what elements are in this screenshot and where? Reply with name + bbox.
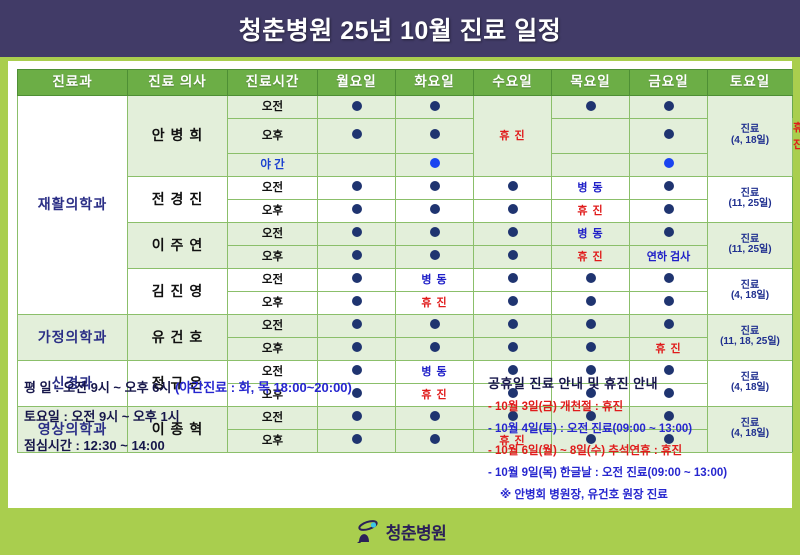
availability-dot-cell	[630, 119, 708, 154]
table-header: 진료과진료 의사진료시간월요일화요일수요일목요일금요일토요일	[18, 70, 793, 96]
availability-dot-cell	[552, 337, 630, 360]
available-dot-icon	[430, 101, 440, 111]
closed-cell: 휴 진	[630, 337, 708, 360]
content-frame: 진료과진료 의사진료시간월요일화요일수요일목요일금요일토요일 재활의학과안 병 …	[8, 61, 792, 508]
availability-dot-cell	[474, 222, 552, 245]
availability-dot-cell	[396, 337, 474, 360]
availability-dot-cell	[474, 245, 552, 268]
availability-dot-cell	[318, 337, 396, 360]
saturday-hours-line: 토요일 : 오전 9시 ~ 오후 1시	[24, 406, 454, 425]
saturday-cell: 진료(11, 25일)	[708, 176, 793, 222]
available-dot-icon	[586, 296, 596, 306]
availability-dot-cell	[318, 176, 396, 199]
closed-label: 휴 진	[655, 343, 681, 355]
available-dot-icon	[508, 319, 518, 329]
empty-cell	[318, 153, 396, 176]
hospital-logo-icon	[354, 520, 380, 544]
available-dot-icon	[508, 250, 518, 260]
available-dot-icon	[508, 342, 518, 352]
availability-dot-cell	[396, 199, 474, 222]
closed-label: 휴 진	[577, 251, 603, 263]
availability-dot-cell	[474, 314, 552, 337]
availability-dot-cell	[318, 245, 396, 268]
availability-dot-cell	[630, 96, 708, 119]
ward-duty-label: 병 동	[421, 274, 447, 286]
saturday-cell: 진료(11, 18, 25일)	[708, 314, 793, 360]
night-availability-cell	[396, 153, 474, 176]
doctor-name: 이 주 연	[128, 222, 228, 268]
department-name: 재활의학과	[18, 96, 128, 315]
available-dot-icon	[664, 227, 674, 237]
available-dot-icon	[352, 296, 362, 306]
saturday-cell: 진료(11, 25일)	[708, 222, 793, 268]
availability-dot-cell	[474, 337, 552, 360]
holiday-notice-list: - 10월 3일(금) 개천절 : 휴진- 10월 4일(토) : 오전 진료(…	[488, 398, 788, 524]
weekday-hours-label: 평 일 : 오전 9시 ~ 오후 6시	[24, 380, 171, 395]
saturday-dates: (4, 18일)	[708, 291, 792, 302]
available-dot-icon	[508, 296, 518, 306]
schedule-poster: 청춘병원 25년 10월 진료 일정 진료과진료 의사진료시간월요일화요일수요일…	[0, 0, 800, 555]
available-dot-icon	[430, 319, 440, 329]
ward-duty-cell: 병 동	[552, 222, 630, 245]
availability-dot-cell	[318, 119, 396, 154]
closed-label: 휴 진	[421, 297, 447, 309]
availability-dot-cell	[630, 314, 708, 337]
night-availability-cell	[630, 153, 708, 176]
saturday-dates: (11, 25일)	[708, 245, 792, 256]
available-dot-icon	[430, 342, 440, 352]
availability-dot-cell	[474, 268, 552, 291]
available-dot-icon	[664, 204, 674, 214]
empty-cell	[552, 119, 630, 154]
column-header-4: 화요일	[396, 70, 474, 96]
saturday-dates: (4, 18일)	[708, 136, 792, 147]
holiday-notice-item: ※ 안병회 병원장, 유건호 원장 진료	[488, 486, 788, 502]
doctor-name: 김 진 영	[128, 268, 228, 314]
availability-dot-cell	[630, 222, 708, 245]
holiday-notice-item: - 10월 9일(목) 한글날 : 오전 진료(09:00 ~ 13:00)	[488, 464, 788, 480]
closed-cell: 휴 진	[552, 245, 630, 268]
closed-cell: 휴 진	[396, 291, 474, 314]
closed-label: 휴 진	[499, 130, 525, 142]
available-dot-icon	[430, 227, 440, 237]
availability-dot-cell	[396, 96, 474, 119]
available-dot-icon	[508, 181, 518, 191]
available-dot-icon	[664, 273, 674, 283]
footer-bar: 청춘병원	[0, 508, 800, 555]
time-slot-label: 오전	[228, 96, 318, 119]
availability-dot-cell	[474, 176, 552, 199]
table-row: 재활의학과안 병 희오전휴 진진료(4, 18일)	[18, 96, 793, 119]
time-slot-label: 야 간	[228, 153, 318, 176]
available-dot-icon	[352, 101, 362, 111]
time-slot-label: 오후	[228, 245, 318, 268]
availability-dot-cell	[630, 268, 708, 291]
availability-dot-cell	[630, 199, 708, 222]
doctor-name: 안 병 희	[128, 96, 228, 177]
holiday-notice-heading: 공휴일 진료 안내 및 휴진 안내	[488, 373, 788, 392]
available-dot-icon	[664, 101, 674, 111]
doctor-name: 유 건 호	[128, 314, 228, 360]
available-dot-icon	[664, 181, 674, 191]
availability-dot-cell	[396, 119, 474, 154]
table-header-row: 진료과진료 의사진료시간월요일화요일수요일목요일금요일토요일	[18, 70, 793, 96]
table-row: 김 진 영오전병 동진료(4, 18일)	[18, 268, 793, 291]
column-header-0: 진료과	[18, 70, 128, 96]
night-dot-icon	[430, 158, 440, 168]
ward-duty-cell: 병 동	[552, 176, 630, 199]
availability-dot-cell	[552, 291, 630, 314]
time-slot-label: 오전	[228, 314, 318, 337]
holiday-notice-item: - 10월 6일(월) ~ 8일(수) 추석연휴 : 휴진	[488, 442, 788, 458]
available-dot-icon	[430, 181, 440, 191]
exam-cell: 연하 검사	[630, 245, 708, 268]
availability-dot-cell	[552, 268, 630, 291]
column-header-7: 금요일	[630, 70, 708, 96]
time-slot-label: 오전	[228, 268, 318, 291]
time-slot-label: 오전	[228, 222, 318, 245]
time-slot-label: 오후	[228, 291, 318, 314]
availability-dot-cell	[396, 314, 474, 337]
closed-label: 휴 진	[793, 122, 800, 151]
exam-label: 연하 검사	[647, 251, 691, 263]
availability-dot-cell	[474, 199, 552, 222]
availability-dot-cell	[552, 314, 630, 337]
available-dot-icon	[352, 319, 362, 329]
column-header-6: 목요일	[552, 70, 630, 96]
time-slot-label: 오후	[228, 337, 318, 360]
doctor-name: 전 경 진	[128, 176, 228, 222]
time-slot-label: 오전	[228, 176, 318, 199]
available-dot-icon	[430, 250, 440, 260]
available-dot-icon	[352, 227, 362, 237]
ward-duty-label: 병 동	[577, 182, 603, 194]
availability-dot-cell	[396, 245, 474, 268]
availability-dot-cell	[630, 291, 708, 314]
available-dot-icon	[352, 342, 362, 352]
available-dot-icon	[352, 250, 362, 260]
availability-dot-cell	[396, 222, 474, 245]
availability-dot-cell	[396, 176, 474, 199]
column-header-5: 수요일	[474, 70, 552, 96]
closed-cell-span: 휴 진	[474, 96, 552, 177]
available-dot-icon	[352, 273, 362, 283]
operating-hours-block: 평 일 : 오전 9시 ~ 오후 6시 (야간진료 : 화, 목 18:00~2…	[24, 377, 454, 464]
available-dot-icon	[508, 204, 518, 214]
available-dot-icon	[352, 204, 362, 214]
ward-duty-cell: 병 동	[396, 268, 474, 291]
available-dot-icon	[664, 319, 674, 329]
availability-dot-cell	[318, 291, 396, 314]
ward-duty-label: 병 동	[577, 228, 603, 240]
column-header-2: 진료시간	[228, 70, 318, 96]
available-dot-icon	[430, 129, 440, 139]
closed-label: 휴 진	[577, 205, 603, 217]
holiday-notice-item: - 10월 4일(토) : 오전 진료(09:00 ~ 13:00)	[488, 420, 788, 436]
available-dot-icon	[508, 227, 518, 237]
page-title: 청춘병원 25년 10월 진료 일정	[239, 11, 561, 47]
saturday-cell: 진료(4, 18일)	[708, 96, 793, 177]
table-row: 가정의학과유 건 호오전진료(11, 18, 25일)	[18, 314, 793, 337]
available-dot-icon	[664, 296, 674, 306]
table-row: 이 주 연오전병 동진료(11, 25일)	[18, 222, 793, 245]
availability-dot-cell	[318, 199, 396, 222]
available-dot-icon	[586, 319, 596, 329]
available-dot-icon	[586, 273, 596, 283]
column-header-1: 진료 의사	[128, 70, 228, 96]
availability-dot-cell	[318, 96, 396, 119]
available-dot-icon	[664, 129, 674, 139]
department-name: 가정의학과	[18, 314, 128, 360]
lunch-hours-line: 점심시간 : 12:30 ~ 14:00	[24, 435, 454, 454]
saturday-dates: (11, 18, 25일)	[708, 337, 792, 348]
available-dot-icon	[352, 181, 362, 191]
available-dot-icon	[352, 129, 362, 139]
footer-brand-name: 청춘병원	[386, 519, 447, 544]
holiday-notice-block: 공휴일 진료 안내 및 휴진 안내 - 10월 3일(금) 개천절 : 휴진- …	[488, 373, 788, 530]
availability-dot-cell	[318, 222, 396, 245]
time-slot-label: 오후	[228, 119, 318, 154]
available-dot-icon	[586, 342, 596, 352]
night-dot-icon	[664, 158, 674, 168]
night-clinic-note: (야간진료 : 화, 목 18:00~20:00)	[175, 380, 352, 395]
closed-cell: 휴 진	[552, 199, 630, 222]
weekday-hours-line: 평 일 : 오전 9시 ~ 오후 6시 (야간진료 : 화, 목 18:00~2…	[24, 377, 454, 396]
availability-dot-cell	[630, 176, 708, 199]
notes-section: 평 일 : 오전 9시 ~ 오후 6시 (야간진료 : 화, 목 18:00~2…	[8, 373, 792, 508]
availability-dot-cell	[552, 96, 630, 119]
availability-dot-cell	[474, 291, 552, 314]
column-header-3: 월요일	[318, 70, 396, 96]
available-dot-icon	[430, 204, 440, 214]
empty-cell	[552, 153, 630, 176]
available-dot-icon	[586, 101, 596, 111]
availability-dot-cell	[318, 314, 396, 337]
holiday-notice-item: - 10월 3일(금) 개천절 : 휴진	[488, 398, 788, 414]
title-bar: 청춘병원 25년 10월 진료 일정	[0, 0, 800, 57]
table-row: 전 경 진오전병 동진료(11, 25일)	[18, 176, 793, 199]
saturday-dates: (11, 25일)	[708, 199, 792, 210]
column-header-8: 토요일	[708, 70, 793, 96]
saturday-cell: 진료(4, 18일)	[708, 268, 793, 314]
time-slot-label: 오후	[228, 199, 318, 222]
available-dot-icon	[508, 273, 518, 283]
availability-dot-cell	[318, 268, 396, 291]
